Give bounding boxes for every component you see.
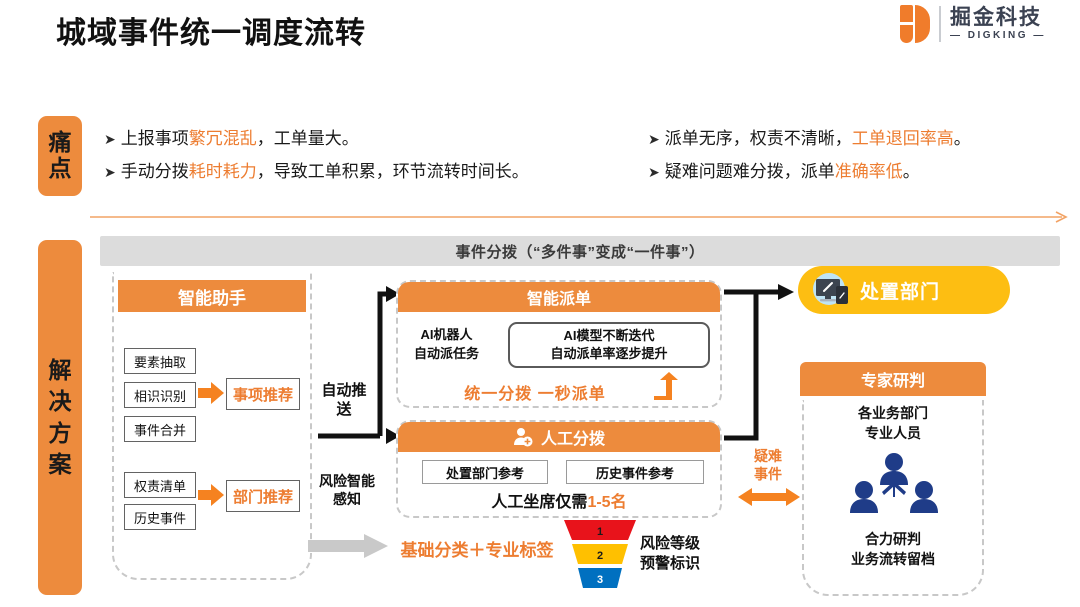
manual-seat-prefix: 人工坐席仅需 — [491, 494, 587, 511]
manual-dispatch-title: 人工分拨 — [398, 422, 720, 452]
risk-tagline: 基础分类＋专业标签 — [392, 536, 562, 561]
expert-bottom-line2: 业务流转留档 — [802, 550, 984, 570]
pain-text: 派单无序，权责不清晰， — [665, 129, 852, 148]
person-add-icon — [513, 427, 533, 447]
manual-seat-count: 人工坐席仅需1-5名 — [400, 488, 718, 512]
page-title: 城域事件统一调度流转 — [56, 8, 366, 52]
assistant-item-box[interactable]: 权责清单 — [124, 472, 196, 498]
expert-top-line1: 各业务部门 — [802, 404, 984, 424]
digking-logo-icon — [900, 5, 930, 43]
pain-points-right-list: ➤派单无序，权责不清晰，工单退回率高。 ➤疑难问题难分拨，派单准确率低。 — [648, 130, 971, 196]
department-badge[interactable]: 处置部门 — [798, 266, 1010, 314]
pain-item: ➤派单无序，权责不清晰，工单退回率高。 — [648, 130, 971, 147]
expert-top-line2: 专业人员 — [802, 424, 984, 444]
pain-text-suffix: ，导致工单积累，环节流转时间长。 — [257, 162, 529, 181]
auto-push-arrow-icon — [318, 282, 400, 448]
assistant-item-box[interactable]: 历史事件 — [124, 504, 196, 530]
expert-bottom-text: 合力研判 业务流转留档 — [802, 530, 984, 569]
manual-reference-box[interactable]: 历史事件参考 — [566, 460, 704, 484]
solution-tab: 解 决 方 案 — [38, 240, 82, 595]
arrow-up-right-icon — [652, 372, 678, 400]
bullet-icon: ➤ — [104, 164, 116, 180]
assistant-item-box[interactable]: 相识识别 — [124, 382, 196, 408]
funnel-label-2: 2 — [597, 550, 603, 562]
assistant-item-box[interactable]: 事件合并 — [124, 416, 196, 442]
dispatch-banner: 事件分拨（“多件事”变成“一件事”） — [100, 236, 1060, 266]
auto-push-label: 自动推送 — [316, 382, 372, 420]
pain-text-suffix: ，工单量大。 — [257, 129, 359, 148]
solution-tab-char-2: 决 — [49, 386, 72, 417]
pain-tab-char-1: 痛 — [49, 130, 72, 156]
pain-highlight: 工单退回率高 — [852, 129, 954, 148]
smart-subtitle-line1: AI机器人 — [414, 326, 479, 345]
pain-text: 上报事项 — [121, 129, 189, 148]
double-arrow-icon — [738, 486, 800, 508]
smart-dispatch-title: 智能派单 — [398, 282, 720, 312]
pain-points-left-list: ➤上报事项繁冗混乱，工单量大。 ➤手动分拨耗时耗力，导致工单积累，环节流转时间长… — [104, 130, 529, 196]
flow-direction-arrow-icon — [90, 212, 1072, 222]
smart-dispatch-slogan: 统一分拨 一秒派单 — [420, 380, 650, 404]
arrow-right-icon — [198, 482, 226, 510]
logo-divider — [939, 6, 941, 42]
expert-title: 专家研判 — [800, 362, 986, 396]
difficult-events-label: 疑难 事件 — [744, 448, 792, 483]
logo-company-name-en: — DIGKING — — [950, 29, 1046, 42]
risk-legend: 风险等级 预警标识 — [640, 534, 700, 575]
ai-model-line2: 自动派单率逐步提升 — [550, 345, 667, 363]
difficult-line2: 事件 — [744, 466, 792, 484]
smart-subtitle-line2: 自动派任务 — [414, 345, 479, 364]
risk-level-funnel-icon: 1 2 3 — [562, 518, 638, 590]
logo-company-name: 掘金科技 — [950, 6, 1046, 29]
pain-highlight: 准确率低 — [835, 162, 903, 181]
auto-push-line1: 自动推送 — [316, 382, 372, 420]
arrow-right-icon — [198, 380, 226, 408]
bullet-icon: ➤ — [648, 131, 660, 147]
pain-item: ➤疑难问题难分拨，派单准确率低。 — [648, 163, 971, 180]
solution-tab-char-1: 解 — [49, 355, 72, 386]
arrow-right-thick-icon — [308, 534, 388, 558]
pain-points-tab: 痛 点 — [38, 116, 82, 196]
pain-highlight: 耗时耗力 — [189, 162, 257, 181]
pain-tab-char-2: 点 — [49, 156, 72, 182]
assistant-item-box[interactable]: 要素抽取 — [124, 348, 196, 374]
expert-bottom-line1: 合力研判 — [802, 530, 984, 550]
ai-model-box[interactable]: AI模型不断迭代 自动派单率逐步提升 — [508, 322, 710, 368]
monitor-device-icon — [812, 273, 850, 307]
pain-item: ➤上报事项繁冗混乱，工单量大。 — [104, 130, 529, 147]
risk-legend-line2: 预警标识 — [640, 554, 700, 574]
expert-top-text: 各业务部门 专业人员 — [802, 404, 984, 443]
manual-seat-highlight: 1-5名 — [587, 494, 626, 511]
solution-tab-char-4: 案 — [49, 449, 72, 480]
bullet-icon: ➤ — [648, 164, 660, 180]
solution-tab-char-3: 方 — [49, 418, 72, 449]
pain-text-suffix: 。 — [954, 129, 971, 148]
brand-logo: 掘金科技 — DIGKING — — [900, 5, 1046, 43]
manual-reference-box[interactable]: 处置部门参考 — [422, 460, 548, 484]
difficult-line1: 疑难 — [744, 448, 792, 466]
funnel-label-1: 1 — [597, 526, 603, 538]
assistant-title: 智能助手 — [118, 280, 306, 312]
pain-text: 手动分拨 — [121, 162, 189, 181]
to-department-arrow-icon — [724, 282, 804, 450]
funnel-label-3: 3 — [597, 574, 603, 586]
people-group-icon — [846, 452, 942, 522]
department-label: 处置部门 — [860, 277, 940, 304]
bullet-icon: ➤ — [104, 131, 116, 147]
pain-highlight: 繁冗混乱 — [189, 129, 257, 148]
assistant-result-box[interactable]: 事项推荐 — [226, 378, 300, 410]
pain-item: ➤手动分拨耗时耗力，导致工单积累，环节流转时间长。 — [104, 163, 529, 180]
manual-dispatch-label: 人工分拨 — [541, 425, 605, 449]
risk-legend-line1: 风险等级 — [640, 534, 700, 554]
pain-text: 疑难问题难分拨，派单 — [665, 162, 835, 181]
assistant-result-box[interactable]: 部门推荐 — [226, 480, 300, 512]
smart-dispatch-subtitle: AI机器人 自动派任务 — [414, 326, 479, 364]
risk-sensing-label: 风险智能感知 — [318, 472, 376, 508]
pain-text-suffix: 。 — [903, 162, 920, 181]
ai-model-line1: AI模型不断迭代 — [563, 327, 654, 345]
